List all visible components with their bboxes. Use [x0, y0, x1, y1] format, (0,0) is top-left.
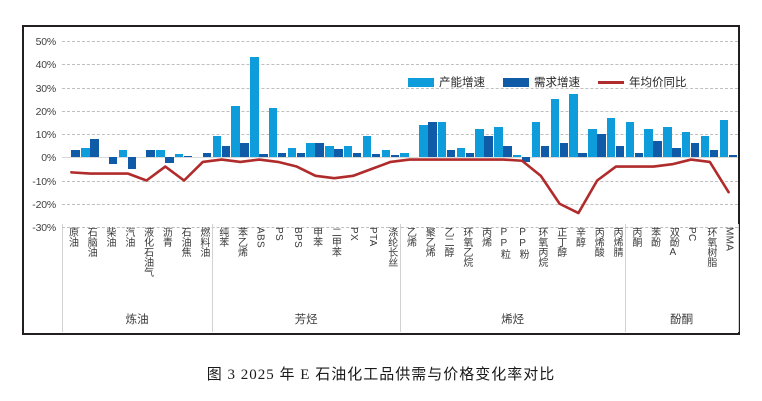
legend-swatch-price-icon	[598, 81, 624, 84]
price-line-layer	[62, 41, 738, 227]
legend-swatch-capacity-icon	[408, 78, 434, 87]
category-label: 二甲苯	[329, 227, 339, 257]
category-label: 丙烯腈	[611, 227, 621, 257]
y-axis-tick-label: 10%	[36, 129, 56, 141]
legend-label-demand: 需求增速	[534, 74, 580, 90]
group-axis: 炼油芳烃烯烃酚酮	[62, 306, 738, 333]
category-label: 柴油	[104, 227, 114, 247]
y-axis-tick-label: 20%	[36, 106, 56, 118]
figure-caption: 图 3 2025 年 E 石油化工品供需与价格变化率对比	[0, 363, 762, 384]
group-separator	[62, 224, 63, 332]
category-label: 液化石油气	[141, 227, 151, 277]
figure-container: 产能增速 需求增速 年均价同比 50%40%30%20%10%0%-10%-20…	[0, 0, 762, 401]
legend-item-capacity: 产能增速	[408, 74, 485, 90]
category-label: 辛醇	[573, 227, 583, 247]
category-label: PC	[686, 227, 696, 242]
legend-swatch-demand-icon	[503, 78, 529, 87]
category-label: 苯乙烯	[235, 227, 245, 257]
category-label: PTA	[367, 227, 377, 247]
legend-item-demand: 需求增速	[503, 74, 580, 90]
category-label: 汽油	[123, 227, 133, 247]
category-label: BPS	[292, 227, 302, 248]
y-axis-tick-label: -30%	[32, 222, 56, 234]
y-axis-tick-label: 30%	[36, 83, 56, 95]
category-label: 丙烯酸	[592, 227, 602, 257]
category-label: 正丁醇	[555, 227, 565, 257]
price-line	[71, 160, 728, 213]
y-axis-tick-label: 0%	[41, 152, 56, 164]
category-label: 双酚A	[667, 227, 677, 258]
group-separator	[625, 224, 626, 332]
chart-legend: 产能增速 需求增速 年均价同比	[408, 74, 687, 90]
category-label: 丙烯	[479, 227, 489, 247]
category-label: 环氧树脂	[705, 227, 715, 267]
category-label: ABS	[254, 227, 264, 248]
legend-label-price: 年均价同比	[629, 74, 687, 90]
category-label: 涤纶长丝	[386, 227, 396, 267]
category-label: PX	[348, 227, 358, 241]
y-axis-tick-label: -10%	[32, 176, 56, 188]
group-label: 酚酮	[670, 311, 693, 327]
category-label: 苯酚	[648, 227, 658, 247]
category-label: 乙二醇	[442, 227, 452, 257]
category-label: 沥青	[160, 227, 170, 247]
category-label: 石油焦	[179, 227, 189, 257]
group-separator	[738, 224, 739, 332]
group-label: 芳烃	[295, 311, 318, 327]
category-label: PP粒	[498, 227, 508, 259]
category-label: 丙酮	[630, 227, 640, 247]
group-separator	[212, 224, 213, 332]
group-label: 烯烃	[501, 311, 524, 327]
category-label: 纯苯	[217, 227, 227, 247]
category-label: 环氧乙烷	[461, 227, 471, 267]
y-axis-tick-label: -20%	[32, 199, 56, 211]
category-label: 乙烯	[404, 227, 414, 247]
category-label: MMA	[724, 227, 734, 251]
group-separator	[400, 224, 401, 332]
category-label: PP粉	[517, 227, 527, 259]
category-label: 聚乙烯	[423, 227, 433, 257]
category-label: 石脑油	[85, 227, 95, 257]
chart-frame: 产能增速 需求增速 年均价同比 50%40%30%20%10%0%-10%-20…	[22, 25, 740, 335]
legend-label-capacity: 产能增速	[439, 74, 485, 90]
category-label: 燃料油	[198, 227, 208, 257]
category-label: 甲苯	[310, 227, 320, 247]
group-label: 炼油	[126, 311, 149, 327]
category-label: 原油	[66, 227, 76, 247]
legend-item-price: 年均价同比	[598, 74, 687, 90]
plot-area: 50%40%30%20%10%0%-10%-20%-30%	[62, 41, 738, 227]
category-label: PS	[273, 227, 283, 241]
y-axis-tick-label: 40%	[36, 59, 56, 71]
y-axis-tick-label: 50%	[36, 36, 56, 48]
category-label: 环氧丙烷	[536, 227, 546, 267]
